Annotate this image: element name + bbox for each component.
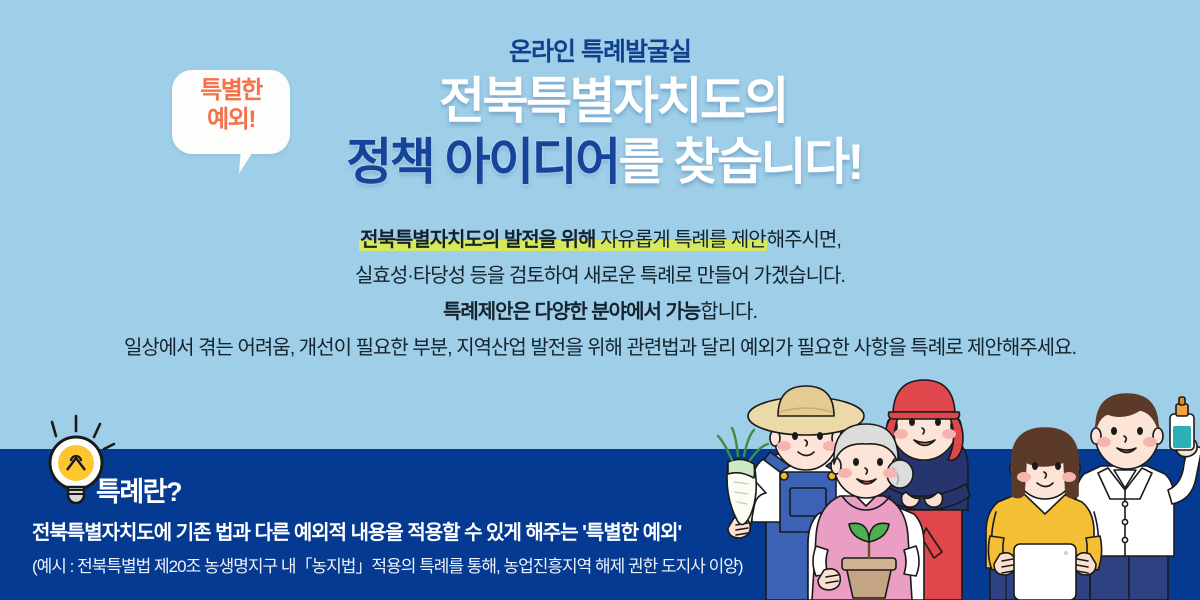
speech-bubble: 특별한 예외!: [172, 70, 290, 154]
speech-bubble-text: 특별한 예외!: [172, 76, 290, 135]
definition-heading: 특례란?: [96, 470, 181, 509]
body-line-1: 전북특별자치도의 발전을 위해 자유롭게 특례를 제안해주시면,: [0, 230, 1200, 250]
headline-line-2-tail: 를 찾습니다!: [619, 134, 862, 190]
body-line-4: 일상에서 겪는 어려움, 개선이 필요한 부분, 지역산업 발전을 위해 관련법…: [0, 338, 1200, 358]
speech-bubble-line-1: 특별한: [172, 76, 290, 105]
body-line-3-bold: 특례제안은 다양한 분야에서 가능: [443, 301, 700, 323]
body-line-1-tail: 해주시면,: [767, 229, 841, 251]
definition-example-text: (예시 : 전북특별법 제20조 농생명지구 내「농지법」적용의 특례를 통해,…: [32, 552, 743, 577]
speech-bubble-line-2: 예외!: [172, 105, 290, 134]
person-student: [986, 428, 1102, 600]
promo-banner: 온라인 특례발굴실 전북특별자치도의 정책 아이디어를 찾습니다! 특별한 예외…: [0, 0, 1200, 600]
speech-bubble-tail: [239, 148, 255, 175]
headline-emphasis: 정책 아이디어: [346, 134, 618, 190]
body-paragraph: 전북특별자치도의 발전을 위해 자유롭게 특례를 제안해주시면, 실효성·타당성…: [0, 230, 1200, 374]
people-illustration: [690, 378, 1200, 600]
definition-main-text: 전북특별자치도에 기존 법과 다른 예외적 내용을 적용할 수 있게 해주는 '…: [32, 516, 681, 545]
page-eyebrow: 온라인 특례발굴실: [0, 32, 1200, 68]
body-line-1-bold: 전북특별자치도의 발전을 위해: [360, 229, 595, 251]
body-line-3-tail: 합니다.: [700, 301, 757, 323]
body-line-1-mid: 자유롭게 특례를 제안: [595, 229, 765, 251]
body-line-2: 실효성·타당성 등을 검토하여 새로운 특례로 만들어 가겠습니다.: [0, 266, 1200, 286]
body-line-3: 특례제안은 다양한 분야에서 가능합니다.: [0, 302, 1200, 322]
